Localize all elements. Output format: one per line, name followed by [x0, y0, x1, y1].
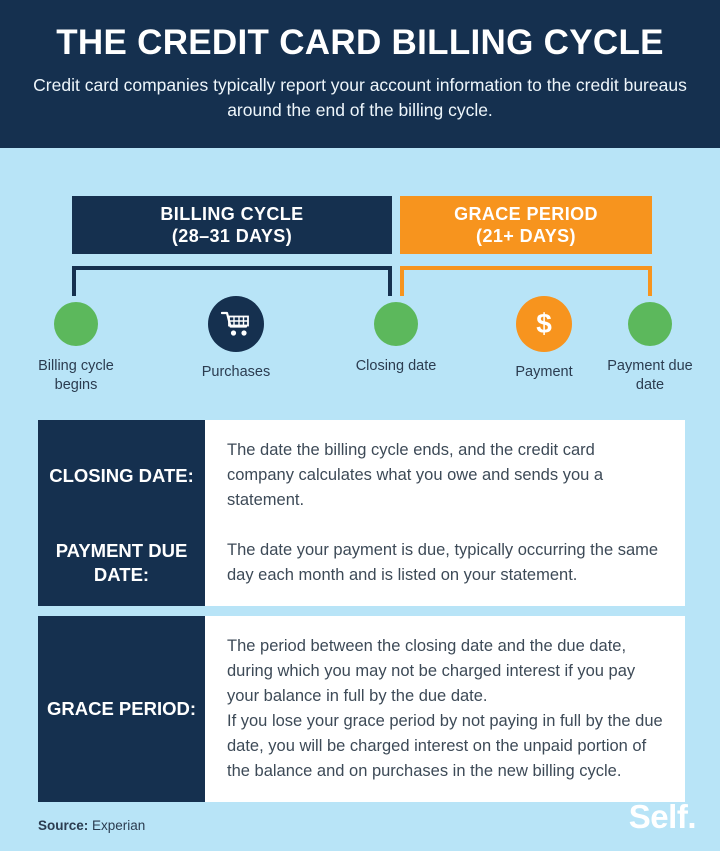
source-label: Source: [38, 818, 88, 833]
definition-term: PAYMENT DUE DATE: [38, 520, 205, 606]
timeline-node-label: Payment [494, 363, 594, 382]
definition-body: The date your payment is due, typically … [205, 520, 685, 606]
timeline-node-label: Closing date [346, 357, 446, 376]
timeline-node-purchases[interactable]: Purchases [186, 296, 286, 382]
dollar-sign-icon: $ [516, 296, 572, 352]
definition-card-closing-date: CLOSING DATE: The date the billing cycle… [38, 420, 685, 531]
page-title: THE CREDIT CARD BILLING CYCLE [0, 22, 720, 64]
band-bar-grace-period: GRACE PERIOD (21+ DAYS) [400, 196, 652, 254]
band-bar-billing-cycle: BILLING CYCLE (28–31 DAYS) [72, 196, 392, 254]
bracket-grace-period [400, 266, 652, 296]
definition-term: GRACE PERIOD: [38, 616, 205, 802]
timeline-node-billing-cycle-begins[interactable]: Billing cycle begins [26, 296, 126, 395]
timeline-node-closing-date[interactable]: Closing date [346, 296, 446, 376]
timeline-node-label: Payment due date [600, 357, 700, 395]
timeline: Billing cycle begins Purchases Closing d… [0, 296, 720, 396]
self-logo: Self. [629, 798, 696, 836]
band-bar-grace-period-name: GRACE PERIOD [454, 203, 598, 225]
definition-body: The period between the closing date and … [205, 616, 685, 802]
shopping-cart-icon [208, 296, 264, 352]
timeline-node-payment[interactable]: $ Payment [494, 296, 594, 382]
band-bar-grace-period-duration: (21+ DAYS) [476, 225, 576, 247]
definition-paragraph: If you lose your grace period by not pay… [227, 709, 665, 784]
band-bar-billing-cycle-name: BILLING CYCLE [160, 203, 303, 225]
definition-card-grace-period: GRACE PERIOD: The period between the clo… [38, 616, 685, 802]
header-banner: THE CREDIT CARD BILLING CYCLE Credit car… [0, 0, 720, 148]
page-subtitle: Credit card companies typically report y… [0, 73, 720, 123]
timeline-node-payment-due-date[interactable]: Payment due date [600, 296, 700, 395]
source-attribution: Source: Experian [38, 818, 145, 833]
green-dot-icon [374, 302, 418, 346]
source-value: Experian [92, 818, 145, 833]
definition-paragraph: The date the billing cycle ends, and the… [227, 438, 665, 513]
green-dot-icon [54, 302, 98, 346]
definition-paragraph: The date your payment is due, typically … [227, 538, 665, 588]
definition-term: CLOSING DATE: [38, 420, 205, 531]
band-bar-billing-cycle-duration: (28–31 DAYS) [172, 225, 292, 247]
bracket-billing-cycle [72, 266, 392, 296]
timeline-node-label: Purchases [186, 363, 286, 382]
infographic-page: THE CREDIT CARD BILLING CYCLE Credit car… [0, 0, 720, 851]
definition-paragraph: The period between the closing date and … [227, 634, 665, 709]
timeline-node-label: Billing cycle begins [26, 357, 126, 395]
definition-card-payment-due-date: PAYMENT DUE DATE: The date your payment … [38, 520, 685, 606]
definition-body: The date the billing cycle ends, and the… [205, 420, 685, 531]
green-dot-icon [628, 302, 672, 346]
svg-text:$: $ [536, 308, 552, 339]
